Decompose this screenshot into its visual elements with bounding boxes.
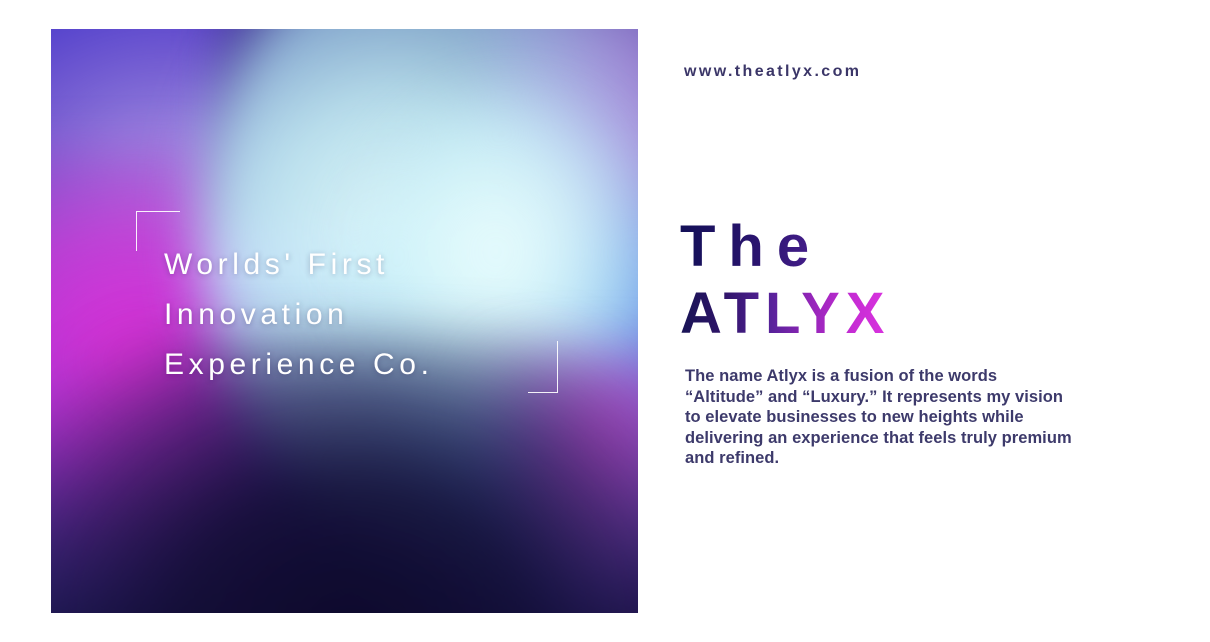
website-url[interactable]: www.theatlyx.com [684, 63, 861, 81]
slide-canvas: Worlds' First Innovation Experience Co. … [0, 0, 1210, 642]
brand-word-the: The [680, 218, 891, 276]
gradient-artwork-panel: Worlds' First Innovation Experience Co. [51, 29, 638, 613]
artwork-headline: Worlds' First Innovation Experience Co. [164, 240, 584, 390]
brand-description: The name Atlyx is a fusion of the words … [685, 366, 1077, 469]
brand-word-atlyx: ATLYX [680, 285, 891, 343]
content-column: www.theatlyx.com The ATLYX The name Atly… [684, 0, 1104, 642]
brand-wordmark: The ATLYX [680, 218, 891, 343]
